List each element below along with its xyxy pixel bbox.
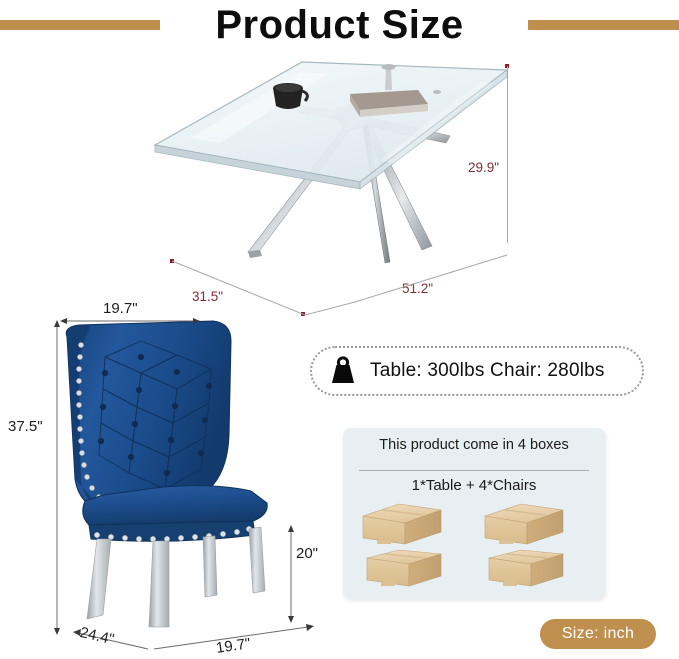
carton-box (485, 504, 563, 544)
table-glass-top (155, 62, 507, 189)
chair-seat-height-label: 20" (296, 545, 318, 562)
packaging-panel: This product come in 4 boxes 1*Table + 4… (343, 428, 605, 599)
page-title: Product Size (0, 0, 679, 50)
packaging-divider (359, 470, 589, 471)
carton-box (367, 550, 441, 586)
table-illustration (150, 50, 510, 280)
chair-height-label: 37.5" (8, 418, 43, 435)
chair-back-width-arrow (60, 316, 200, 326)
packaging-title: This product come in 4 boxes (343, 437, 605, 453)
chair-height-arrow (52, 320, 62, 635)
product-size-infographic: Product Size (0, 0, 679, 659)
chair-illustration (45, 315, 305, 645)
chair-seat-width-label: 19.7" (215, 635, 252, 657)
weight-capacity-badge: Table: 300lbs Chair: 280lbs (310, 346, 644, 396)
packaging-subtitle: 1*Table + 4*Chairs (343, 477, 605, 494)
chair-back-width-label: 19.7" (103, 300, 138, 317)
weight-icon (328, 356, 358, 386)
table-base-dimension-lines (150, 250, 520, 320)
table-height-line (507, 66, 508, 243)
weight-capacity-text: Table: 300lbs Chair: 280lbs (370, 360, 605, 382)
size-unit-label: Size: inch (562, 625, 634, 643)
carton-box (489, 550, 563, 586)
size-unit-badge: Size: inch (540, 619, 656, 649)
carton-grid (361, 502, 587, 592)
table-height-label: 29.9" (468, 160, 499, 175)
table-hardware (433, 90, 441, 94)
carton-box (363, 504, 441, 544)
